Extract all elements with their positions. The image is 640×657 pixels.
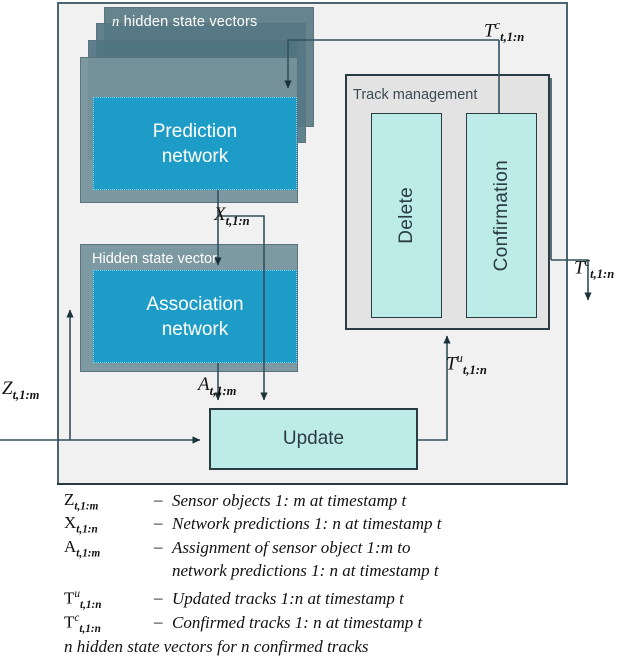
signal-Tc-top-base: T bbox=[484, 20, 495, 41]
legend-symbol-subscript: t,1:n bbox=[79, 623, 101, 635]
legend-symbol-base: T bbox=[64, 589, 74, 608]
legend-symbol-base: A bbox=[64, 537, 76, 556]
legend-symbol-base: X bbox=[64, 513, 76, 532]
legend-dash: – bbox=[154, 612, 172, 632]
signal-label-A: At,1:m bbox=[198, 374, 236, 399]
legend-symbol-subscript: t,1:m bbox=[76, 547, 100, 559]
signal-Z-sub: t,1:m bbox=[13, 388, 40, 402]
signal-A-base: A bbox=[198, 374, 210, 395]
legend-row: Tut,1:n–Updated tracks 1:n at timestamp … bbox=[64, 588, 564, 611]
signal-label-Tu: Tut,1:n bbox=[446, 351, 487, 378]
legend-description: Assignment of sensor object 1:m to bbox=[172, 537, 410, 559]
signal-label-Tc-feedback: Tct,1:n bbox=[484, 18, 524, 45]
legend-row: Xt,1:n–Network predictions 1: n at times… bbox=[64, 513, 564, 535]
signal-A-sub: t,1:m bbox=[210, 384, 237, 398]
signal-label-Tc-output: Tct,1:n bbox=[574, 255, 614, 282]
legend-row: At,1:m–Assignment of sensor object 1:m t… bbox=[64, 537, 564, 559]
legend-symbol-subscript: t,1:m bbox=[74, 500, 98, 512]
legend-description: Network predictions 1: n at timestamp t bbox=[172, 513, 441, 535]
legend-row: Tct,1:n–Confirmed tracks 1: n at timesta… bbox=[64, 612, 564, 635]
legend-symbol: Zt,1:m bbox=[64, 490, 154, 512]
legend-symbol-subscript: t,1:n bbox=[80, 599, 102, 611]
legend-symbol-base: T bbox=[64, 613, 74, 632]
signal-Tc-top-sub: t,1:n bbox=[500, 30, 524, 44]
legend-symbol: Tut,1:n bbox=[64, 588, 154, 611]
legend-dash: – bbox=[154, 490, 172, 510]
legend-symbol: Tct,1:n bbox=[64, 612, 154, 635]
legend-description-continuation: network predictions 1: n at timestamp t bbox=[172, 560, 564, 582]
legend-description: Sensor objects 1: m at timestamp t bbox=[172, 490, 406, 512]
signal-Tc-right-sub: t,1:n bbox=[590, 267, 614, 281]
legend-table: Zt,1:m–Sensor objects 1: m at timestamp … bbox=[64, 490, 564, 657]
signal-Tu-base: T bbox=[446, 353, 457, 374]
legend-footnote: n hidden state vectors for n confirmed t… bbox=[64, 637, 564, 657]
legend-dash: – bbox=[154, 537, 172, 557]
signal-Z-base: Z bbox=[2, 378, 13, 399]
legend-description: Updated tracks 1:n at timestamp t bbox=[172, 588, 404, 610]
signal-label-Z: Zt,1:m bbox=[2, 378, 39, 403]
legend-symbol: Xt,1:n bbox=[64, 513, 154, 535]
diagram-canvas: n hidden state vectors Prediction networ… bbox=[0, 0, 640, 648]
legend-symbol-subscript: t,1:n bbox=[76, 524, 98, 536]
legend-dash: – bbox=[154, 588, 172, 608]
signal-X-sub: t,1:n bbox=[226, 214, 250, 228]
signal-Tu-sub: t,1:n bbox=[463, 363, 487, 377]
signal-X-base: X bbox=[214, 204, 226, 225]
signal-Tc-right-base: T bbox=[574, 257, 585, 278]
signal-label-X: Xt,1:n bbox=[214, 204, 250, 229]
legend-symbol-base: Z bbox=[64, 490, 74, 509]
legend-dash: – bbox=[154, 513, 172, 533]
legend-symbol: At,1:m bbox=[64, 537, 154, 559]
legend-row: Zt,1:m–Sensor objects 1: m at timestamp … bbox=[64, 490, 564, 512]
legend-description: Confirmed tracks 1: n at timestamp t bbox=[172, 612, 422, 634]
